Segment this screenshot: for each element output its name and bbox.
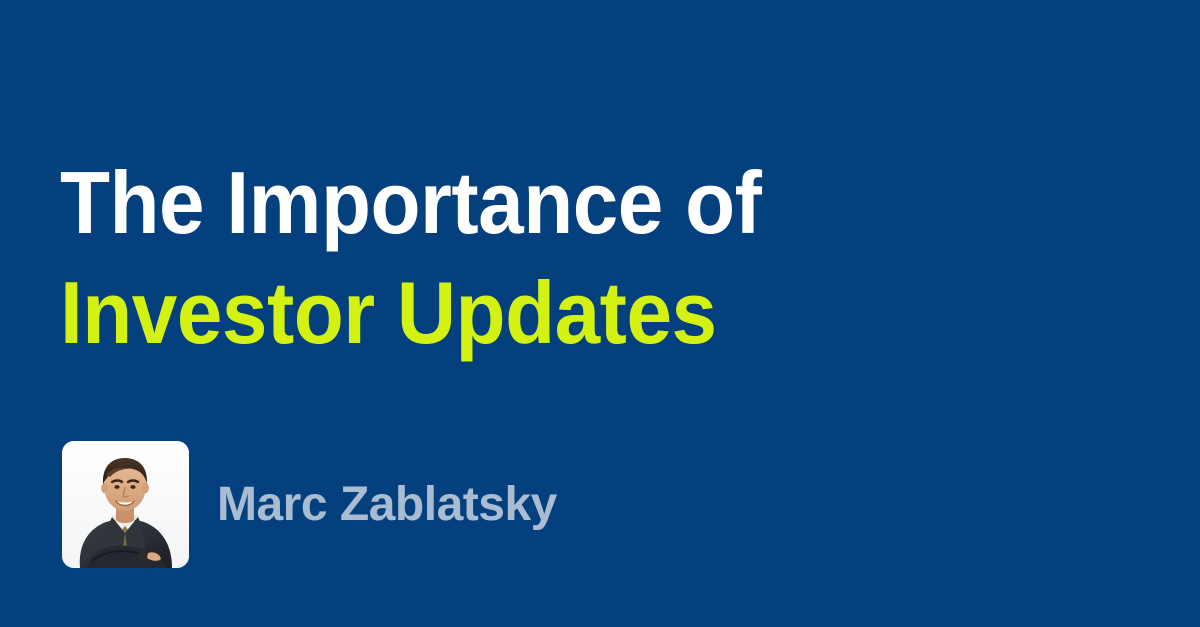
page-title: The Importance of Investor Updates — [60, 148, 900, 368]
title-line-accent: Investor Updates — [60, 258, 841, 368]
avatar — [62, 441, 189, 568]
title-line-primary: The Importance of — [60, 148, 841, 258]
author-name: Marc Zablatsky — [217, 481, 557, 529]
person-portrait-photo-icon — [62, 441, 189, 568]
article-title-card: The Importance of Investor Updates — [0, 0, 1200, 627]
author-byline: Marc Zablatsky — [62, 441, 557, 568]
